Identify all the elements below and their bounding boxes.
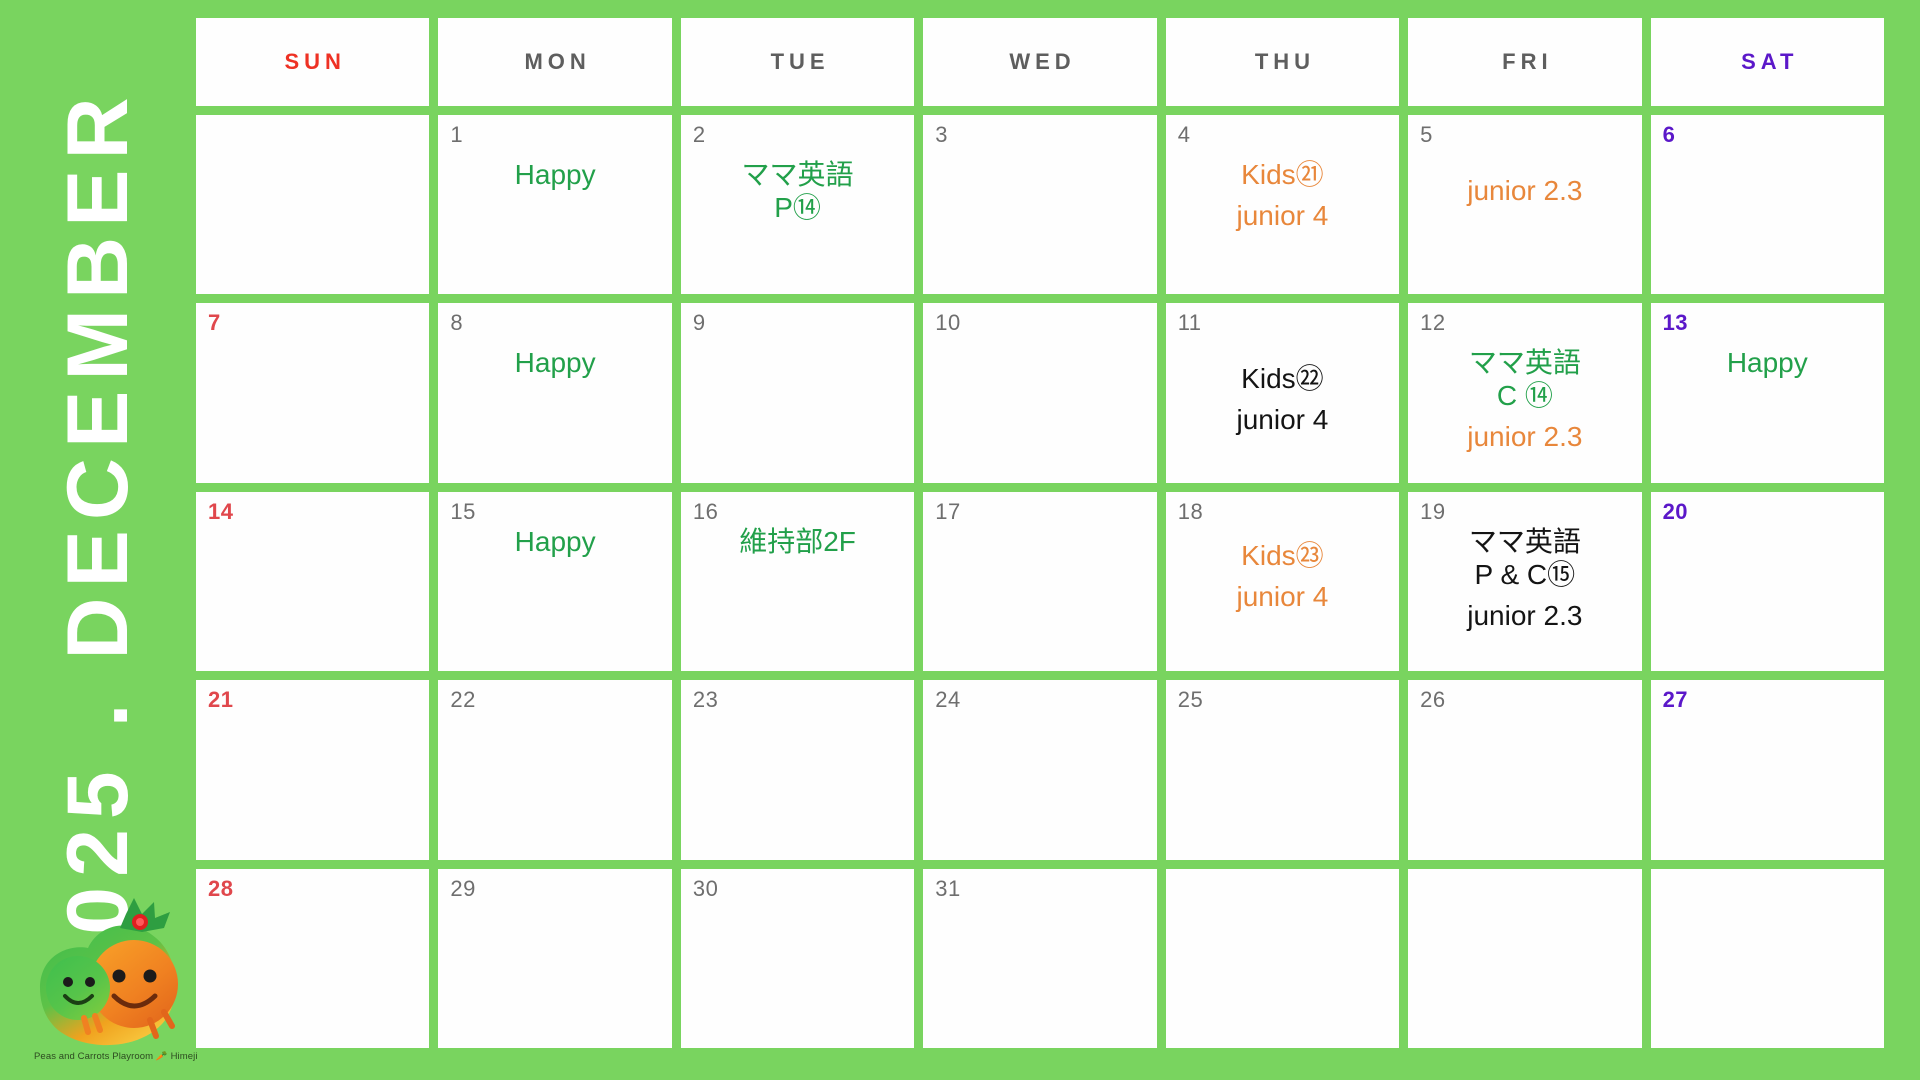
day-events [1663, 711, 1872, 853]
day-events: Kids㉑junior 4 [1178, 146, 1387, 288]
day-events [935, 900, 1144, 1042]
day-number: 9 [693, 312, 902, 334]
pea-arm-1 [84, 1018, 88, 1032]
day-number: 31 [935, 878, 1144, 900]
day-events [693, 334, 902, 476]
day-events [935, 146, 1144, 288]
event-subtitle: P⑭ [693, 191, 902, 224]
day-events: junior 2.3 [1420, 146, 1629, 288]
day-number: 26 [1420, 689, 1629, 711]
calendar-cell-empty[interactable] [1166, 869, 1399, 1048]
event-label[interactable]: Happy [450, 158, 659, 191]
event-label[interactable]: Happy [450, 346, 659, 379]
day-events [935, 523, 1144, 665]
calendar-cell[interactable]: 12ママ英語C ⑭junior 2.3 [1408, 303, 1641, 482]
month-title-text: 2025 . DECEMBER [55, 87, 141, 992]
day-number: 16 [693, 501, 902, 523]
calendar-cell[interactable]: 15Happy [438, 492, 671, 671]
day-events [208, 124, 417, 288]
calendar-cell[interactable]: 31 [923, 869, 1156, 1048]
event-label[interactable]: ママ英語C ⑭ [1420, 346, 1629, 412]
event-title: ママ英語 [1469, 526, 1581, 557]
day-events [450, 900, 659, 1042]
day-events: Happy [450, 523, 659, 665]
day-events: 維持部2F [693, 523, 902, 665]
day-events [935, 711, 1144, 853]
day-events: Happy [450, 334, 659, 476]
day-events: ママ英語P⑭ [693, 146, 902, 288]
calendar-cell[interactable]: 4Kids㉑junior 4 [1166, 115, 1399, 294]
dow-header-sat: SAT [1651, 18, 1884, 106]
day-number: 25 [1178, 689, 1387, 711]
dow-header-fri: FRI [1408, 18, 1641, 106]
event-title: junior 4 [1237, 581, 1329, 612]
day-number: 29 [450, 878, 659, 900]
calendar-cell[interactable]: 14 [196, 492, 429, 671]
day-events [1663, 523, 1872, 665]
event-title: Kids㉑ [1241, 159, 1323, 190]
event-title: Happy [515, 526, 596, 557]
event-label[interactable]: junior 2.3 [1420, 599, 1629, 632]
day-number: 23 [693, 689, 902, 711]
calendar-cell[interactable]: 6 [1651, 115, 1884, 294]
calendar-cell[interactable]: 10 [923, 303, 1156, 482]
calendar-cell[interactable]: 20 [1651, 492, 1884, 671]
carrot-eye-right [144, 970, 157, 983]
calendar-cell-empty[interactable] [1408, 869, 1641, 1048]
event-label[interactable]: junior 4 [1178, 403, 1387, 436]
event-title: ママ英語 [742, 159, 854, 190]
day-events [208, 334, 417, 476]
calendar-cell[interactable]: 26 [1408, 680, 1641, 859]
event-title: Happy [1727, 347, 1808, 378]
day-number: 19 [1420, 501, 1629, 523]
event-title: 維持部2F [739, 526, 856, 557]
day-events: Kids㉓junior 4 [1178, 523, 1387, 665]
day-events [450, 711, 659, 853]
calendar-cell[interactable]: 18Kids㉓junior 4 [1166, 492, 1399, 671]
calendar-cell[interactable]: 29 [438, 869, 671, 1048]
calendar-cell[interactable]: 2ママ英語P⑭ [681, 115, 914, 294]
calendar-cell[interactable]: 11Kids㉒junior 4 [1166, 303, 1399, 482]
event-title: Kids㉓ [1241, 540, 1323, 571]
pea-head [46, 956, 110, 1020]
calendar-cell[interactable]: 22 [438, 680, 671, 859]
dow-header-mon: MON [438, 18, 671, 106]
carrot-arm-1 [164, 1012, 172, 1026]
day-number: 24 [935, 689, 1144, 711]
day-events: Happy [1663, 334, 1872, 476]
calendar-cell-empty[interactable] [1651, 869, 1884, 1048]
carrot-berry-inner [136, 918, 144, 926]
event-label[interactable]: Kids㉓ [1178, 539, 1387, 572]
event-label[interactable]: ママ英語P⑭ [693, 158, 902, 224]
event-label[interactable]: junior 2.3 [1420, 174, 1629, 207]
pea-eye-right [85, 977, 95, 987]
day-events [1663, 146, 1872, 288]
event-title: Happy [515, 347, 596, 378]
day-number: 4 [1178, 124, 1387, 146]
day-number: 20 [1663, 501, 1872, 523]
day-number: 14 [208, 501, 417, 523]
calendar-cell[interactable]: 23 [681, 680, 914, 859]
day-events [693, 711, 902, 853]
day-events: ママ英語P & C⑮junior 2.3 [1420, 523, 1629, 665]
event-title: junior 4 [1237, 200, 1329, 231]
day-number: 21 [208, 689, 417, 711]
calendar-cell[interactable]: 19ママ英語P & C⑮junior 2.3 [1408, 492, 1641, 671]
day-number: 28 [208, 878, 417, 900]
calendar-cell[interactable]: 1Happy [438, 115, 671, 294]
day-events [693, 900, 902, 1042]
carrot-eye-left [113, 970, 126, 983]
calendar-cell[interactable]: 5junior 2.3 [1408, 115, 1641, 294]
event-label[interactable]: ママ英語P & C⑮ [1420, 525, 1629, 591]
calendar-cell[interactable]: 25 [1166, 680, 1399, 859]
dow-header-thu: THU [1166, 18, 1399, 106]
day-number: 2 [693, 124, 902, 146]
pea-eye-left [63, 977, 73, 987]
calendar-cell[interactable]: 17 [923, 492, 1156, 671]
event-label[interactable]: Happy [450, 525, 659, 558]
event-label[interactable]: junior 4 [1178, 580, 1387, 613]
day-events [208, 523, 417, 665]
calendar-cell[interactable]: 13Happy [1651, 303, 1884, 482]
event-title: ママ英語 [1469, 347, 1581, 378]
calendar-cell-empty[interactable] [196, 115, 429, 294]
day-events [1663, 878, 1872, 1042]
calendar-cell[interactable]: 24 [923, 680, 1156, 859]
event-title: junior 4 [1237, 404, 1329, 435]
event-label[interactable]: Happy [1663, 346, 1872, 379]
day-number: 18 [1178, 501, 1387, 523]
calendar-cell[interactable]: 21 [196, 680, 429, 859]
dow-header-sun: SUN [196, 18, 429, 106]
mascot-logo [22, 896, 202, 1066]
day-number: 5 [1420, 124, 1629, 146]
calendar-cell[interactable]: 30 [681, 869, 914, 1048]
day-events [208, 900, 417, 1042]
day-events: Happy [450, 146, 659, 288]
day-events [935, 334, 1144, 476]
day-events [1178, 711, 1387, 853]
calendar-grid: SUN MON TUE WED THU FRI SAT 1Happy2ママ英語P… [196, 18, 1902, 1064]
day-events [1178, 878, 1387, 1042]
event-label[interactable]: 維持部2F [693, 525, 902, 558]
event-title: junior 2.3 [1467, 600, 1582, 631]
event-title: junior 2.3 [1467, 175, 1582, 206]
event-title: Kids㉒ [1241, 363, 1323, 394]
day-events [1420, 711, 1629, 853]
event-subtitle: C ⑭ [1420, 379, 1629, 412]
calendar-cell[interactable]: 16維持部2F [681, 492, 914, 671]
day-events [1420, 878, 1629, 1042]
event-label[interactable]: junior 2.3 [1420, 420, 1629, 453]
day-number: 10 [935, 312, 1144, 334]
day-number: 15 [450, 501, 659, 523]
calendar-cell[interactable]: 3 [923, 115, 1156, 294]
event-title: junior 2.3 [1467, 421, 1582, 452]
day-number: 1 [450, 124, 659, 146]
calendar-cell[interactable]: 28 [196, 869, 429, 1048]
event-label[interactable]: Kids㉒ [1178, 362, 1387, 395]
calendar-cell[interactable]: 27 [1651, 680, 1884, 859]
day-number: 3 [935, 124, 1144, 146]
day-number: 8 [450, 312, 659, 334]
day-number: 17 [935, 501, 1144, 523]
event-label[interactable]: junior 4 [1178, 199, 1387, 232]
event-title: Happy [515, 159, 596, 190]
day-number: 11 [1178, 312, 1387, 334]
event-label[interactable]: Kids㉑ [1178, 158, 1387, 191]
day-number: 12 [1420, 312, 1629, 334]
calendar-cell[interactable]: 9 [681, 303, 914, 482]
mascot-caption: Peas and Carrots Playroom 🥕 Himeji [34, 1051, 224, 1062]
day-number: 13 [1663, 312, 1872, 334]
day-number: 6 [1663, 124, 1872, 146]
calendar-cell[interactable]: 8Happy [438, 303, 671, 482]
dow-header-tue: TUE [681, 18, 914, 106]
day-number: 27 [1663, 689, 1872, 711]
dow-header-wed: WED [923, 18, 1156, 106]
day-number: 22 [450, 689, 659, 711]
calendar-cell[interactable]: 7 [196, 303, 429, 482]
day-number: 30 [693, 878, 902, 900]
day-events [208, 711, 417, 853]
day-events: ママ英語C ⑭junior 2.3 [1420, 334, 1629, 476]
event-subtitle: P & C⑮ [1420, 558, 1629, 591]
day-events: Kids㉒junior 4 [1178, 334, 1387, 476]
day-number: 7 [208, 312, 417, 334]
